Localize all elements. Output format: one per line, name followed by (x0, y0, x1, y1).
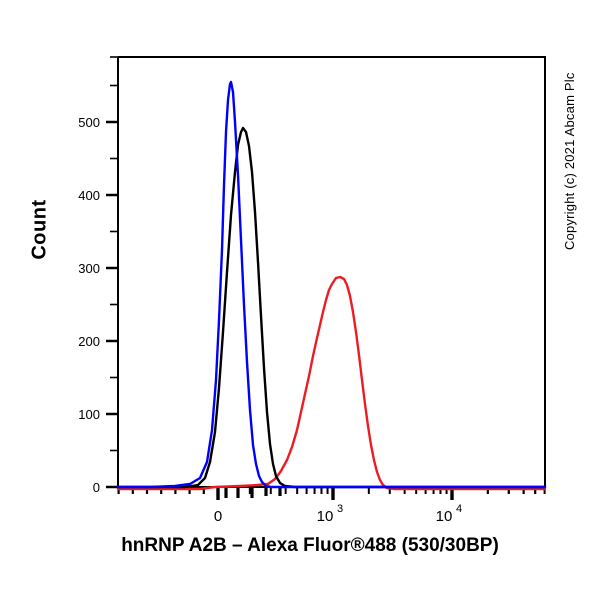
y-axis-minor-ticks (110, 57, 118, 451)
histogram-curve (118, 277, 545, 489)
x-tick-label-1e4: 10 (436, 508, 453, 525)
y-tick-label: 100 (78, 407, 100, 422)
y-tick-label: 500 (78, 115, 100, 130)
plot-frame (118, 57, 545, 487)
y-tick-label: 200 (78, 334, 100, 349)
y-axis-tick-labels: 0 100 200 300 400 500 (78, 115, 100, 495)
flow-cytometry-figure: 0 100 200 300 400 500 0 10 3 10 4 Count … (0, 0, 600, 600)
histogram-curves (118, 82, 545, 489)
x-axis-tick-labels: 0 10 3 10 4 (214, 503, 462, 525)
x-tick-label-zero: 0 (214, 508, 222, 525)
copyright-notice: Copyright (c) 2021 Abcam Plc (562, 72, 577, 250)
histogram-plot: 0 100 200 300 400 500 0 10 3 10 4 (0, 0, 600, 600)
x-tick-label-1e3: 10 (317, 508, 334, 525)
y-tick-label: 300 (78, 261, 100, 276)
y-tick-label: 0 (93, 480, 100, 495)
x-tick-exponent-1e3: 3 (337, 503, 343, 515)
chart-title: hnRNP A2B – Alexa Fluor®488 (530/30BP) (60, 535, 560, 557)
y-axis-title: Count (29, 160, 52, 300)
x-tick-exponent-1e4: 4 (456, 503, 462, 515)
y-tick-label: 400 (78, 188, 100, 203)
histogram-curve (118, 128, 545, 487)
